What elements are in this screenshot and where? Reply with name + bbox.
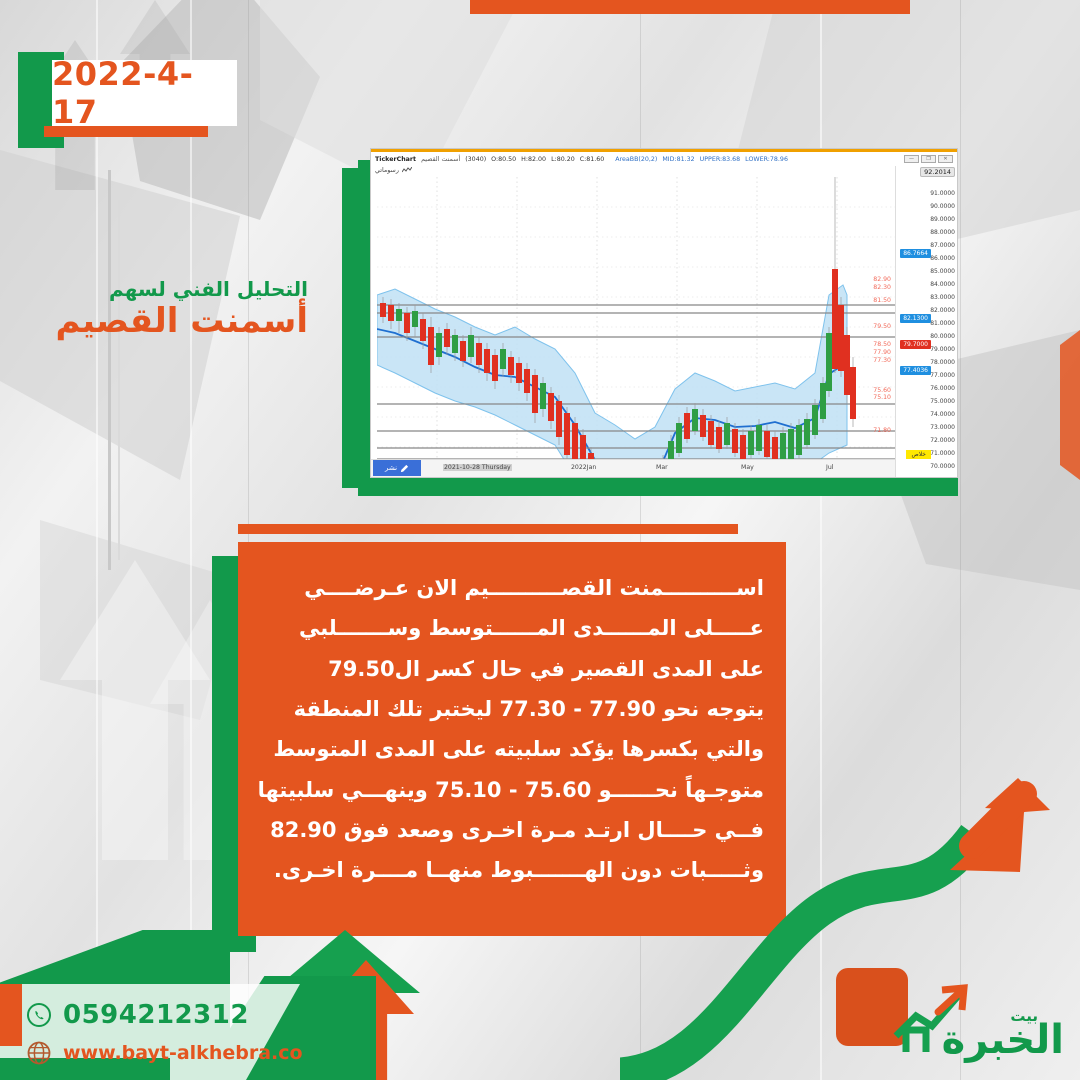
y-tick: 90.0000	[930, 203, 955, 210]
top-accent-bar	[470, 0, 910, 14]
y-tick: 74.0000	[930, 411, 955, 418]
y-tick: 88.0000	[930, 229, 955, 236]
y-tick: 73.0000	[930, 424, 955, 431]
minimize-icon[interactable]: —	[904, 155, 919, 163]
date-badge: 2022-4-17	[52, 60, 237, 126]
bg-stripe	[96, 0, 98, 1080]
window-controls[interactable]: — ❐ ✕	[904, 155, 953, 163]
y-tick: 86.0000	[930, 255, 955, 262]
chart-header: TickerChart أسمنت القصيم (3040) O:80.50 …	[371, 152, 957, 166]
y-tick: 81.0000	[930, 320, 955, 327]
restore-icon[interactable]: ❐	[921, 155, 936, 163]
chart-bb-mid: MID:81.32	[662, 156, 694, 163]
chart-subtitle: رسوماتي	[375, 167, 412, 174]
level-label: 82.30	[873, 284, 891, 291]
globe-icon	[26, 1040, 52, 1066]
sparkline-icon	[402, 167, 412, 174]
level-label: 75.60	[873, 387, 891, 394]
whatsapp-icon	[26, 1002, 52, 1028]
ticker-chart-panel[interactable]: TickerChart أسمنت القصيم (3040) O:80.50 …	[370, 148, 958, 478]
price-axis-top-value: 92.2014	[920, 167, 955, 177]
price-marker-badge: 86.7664	[900, 249, 931, 258]
level-label: 81.50	[873, 297, 891, 304]
chart-green-rail	[342, 168, 358, 488]
price-marker-badge: 82.1300	[900, 314, 931, 323]
y-tick: 71.0000	[930, 450, 955, 457]
chart-open-value: O:80.50	[491, 156, 516, 163]
body-top-accent-bar	[238, 524, 738, 534]
price-marker-badge: 77.4036	[900, 366, 931, 375]
right-accent-shape	[1060, 330, 1080, 480]
chart-bb-lower: LOWER:78.96	[745, 156, 788, 163]
y-tick: 80.0000	[930, 333, 955, 340]
date-text: 2022-4-17	[52, 55, 237, 131]
time-axis[interactable]: 2021-10-28 Thursday 2022Jan Mar May Jul	[371, 459, 895, 477]
level-label: 77.30	[873, 357, 891, 364]
publish-button-label: نشر	[385, 464, 397, 472]
contact-phone-row[interactable]: 0594212312	[26, 1000, 249, 1030]
price-plot[interactable]	[377, 177, 897, 478]
chart-symbol-name: أسمنت القصيم	[421, 156, 460, 163]
y-tick: 82.0000	[930, 307, 955, 314]
close-icon[interactable]: ✕	[938, 155, 953, 163]
x-tick: Jul	[826, 464, 833, 471]
chart-symbol-code: (3040)	[465, 156, 486, 163]
chart-brand-label: TickerChart	[375, 156, 416, 163]
chart-high-value: H:82.00	[521, 156, 546, 163]
y-tick: 75.0000	[930, 398, 955, 405]
left-rail	[118, 200, 120, 560]
x-tick: Mar	[656, 464, 668, 471]
chart-bottom-badge: خلاص	[906, 450, 931, 459]
y-tick: 91.0000	[930, 190, 955, 197]
y-tick: 84.0000	[930, 281, 955, 288]
phone-number[interactable]: 0594212312	[63, 1000, 249, 1030]
logo-text: بيت الخبرة	[942, 1009, 1064, 1060]
date-underline	[44, 126, 208, 137]
chart-close-value: C:81.60	[580, 156, 605, 163]
level-label: 77.90	[873, 349, 891, 356]
chart-bb-upper: UPPER:83.68	[700, 156, 741, 163]
logo-main-word: الخبرة	[942, 1020, 1064, 1060]
publish-button[interactable]: نشر	[373, 460, 421, 476]
page-title: التحليل الفني لسهم أسمنت القصيم	[0, 278, 308, 341]
price-axis[interactable]: 92.2014 91.0000 90.0000 89.0000 88.0000 …	[895, 166, 957, 477]
chart-indicator-label: AreaBB(20,2)	[615, 156, 657, 163]
y-tick: 78.0000	[930, 359, 955, 366]
title-subtitle: التحليل الفني لسهم	[0, 278, 308, 300]
x-tick: 2021-10-28 Thursday	[443, 464, 512, 471]
y-tick: 83.0000	[930, 294, 955, 301]
analysis-line: عـــــلى المــــــدى المــــــتوسط وســـ…	[258, 608, 764, 648]
x-tick: 2022Jan	[571, 464, 596, 471]
y-tick: 89.0000	[930, 216, 955, 223]
chart-subtitle-text: رسوماتي	[375, 167, 399, 174]
chart-low-value: L:80.20	[551, 156, 575, 163]
contact-website-row[interactable]: www.bayt-alkhebra.co	[26, 1040, 303, 1066]
y-tick: 85.0000	[930, 268, 955, 275]
brand-logo: بيت الخبرة	[854, 974, 1064, 1066]
footer-orange-edge	[0, 984, 22, 1046]
level-label: 82.90	[873, 276, 891, 283]
level-label: 71.80	[873, 427, 891, 434]
level-label: 78.50	[873, 341, 891, 348]
bg-stripe	[190, 0, 192, 1080]
y-tick: 72.0000	[930, 437, 955, 444]
pencil-icon	[400, 464, 409, 473]
level-label: 75.10	[873, 394, 891, 401]
y-tick: 79.0000	[930, 346, 955, 353]
x-tick: May	[741, 464, 754, 471]
title-main: أسمنت القصيم	[0, 302, 308, 341]
y-tick: 87.0000	[930, 242, 955, 249]
y-tick: 76.0000	[930, 385, 955, 392]
left-rail	[108, 170, 111, 570]
website-url[interactable]: www.bayt-alkhebra.co	[63, 1042, 303, 1064]
analysis-line: اســــــــــمنت القصــــــــــيم الان عـ…	[258, 568, 764, 608]
y-tick: 77.0000	[930, 372, 955, 379]
price-marker-badge: 79.7000	[900, 340, 931, 349]
poster-canvas: 2022-4-17 التحليل الفني لسهم أسمنت القصي…	[0, 0, 1080, 1080]
level-label: 79.50	[873, 323, 891, 330]
